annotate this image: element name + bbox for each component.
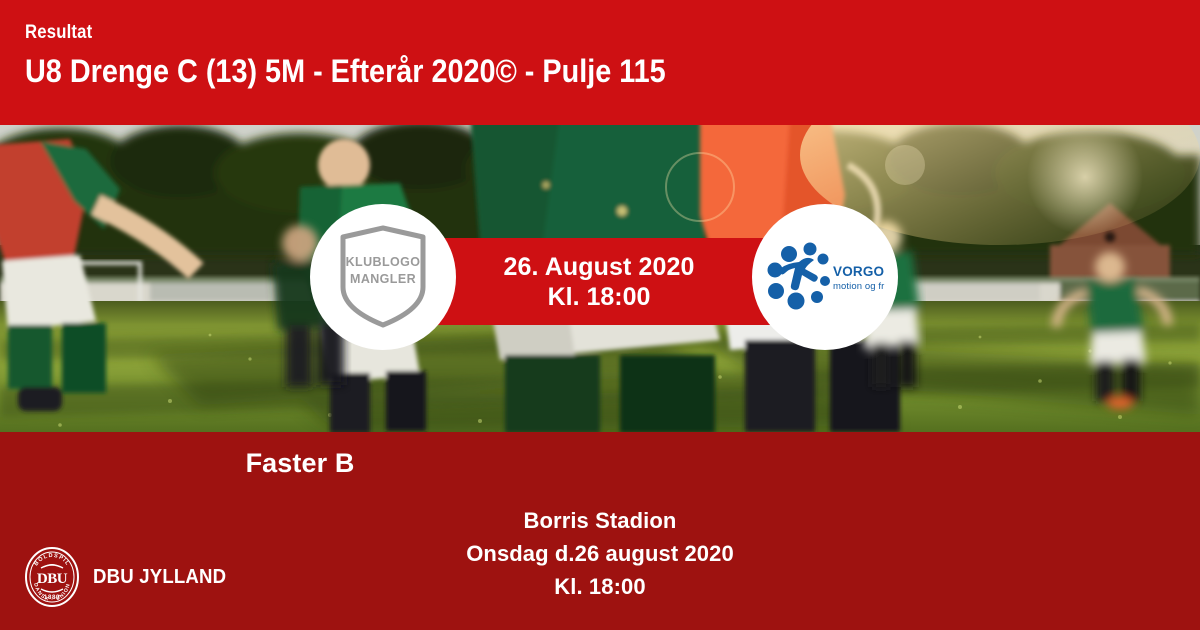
dbu-label: DBU JYLLAND [93,566,226,589]
poster-header: Resultat U8 Drenge C (13) 5M - Efterår 2… [0,0,1200,125]
match-datetime-text: 26. August 2020 Kl. 18:00 [443,238,755,325]
home-logo-line2: MANGLER [335,271,431,288]
dbu-crest-icon: BOLDSPIL DANSK · UNION DBU 1889 [24,546,80,608]
svg-text:1889: 1889 [44,594,60,601]
dbu-branding: BOLDSPIL DANSK · UNION DBU 1889 DBU JYLL… [24,546,236,608]
home-club-logo: KLUBLOGO MANGLER [310,204,456,350]
shield-placeholder-icon: KLUBLOGO MANGLER [335,225,431,329]
home-logo-placeholder-text: KLUBLOGO MANGLER [335,254,431,288]
home-logo-line1: KLUBLOGO [335,254,431,271]
page-title: U8 Drenge C (13) 5M - Efterår 2020© - Pu… [25,51,1083,91]
away-club-logo: VORGOD•BARDE motion og fritid [752,204,898,350]
header-kicker: Resultat [25,22,1059,44]
venue-name: Borris Stadion [0,504,1200,537]
svg-text:motion og fritid: motion og fritid [833,281,885,292]
teams-row: Faster B Vorgod-Barde MOF [0,446,1200,480]
svg-text:DBU: DBU [37,571,68,587]
match-time: Kl. 18:00 [548,282,651,312]
match-date: 26. August 2020 [504,252,695,282]
result-poster: Resultat U8 Drenge C (13) 5M - Efterår 2… [0,0,1200,630]
home-team-name: Faster B [0,446,818,480]
vorgod-barde-club-logo: VORGOD•BARDE motion og fritid [765,240,885,314]
away-team-name: Vorgod-Barde MOF [818,446,1200,480]
svg-text:VORGOD•BARDE: VORGOD•BARDE [833,264,885,279]
